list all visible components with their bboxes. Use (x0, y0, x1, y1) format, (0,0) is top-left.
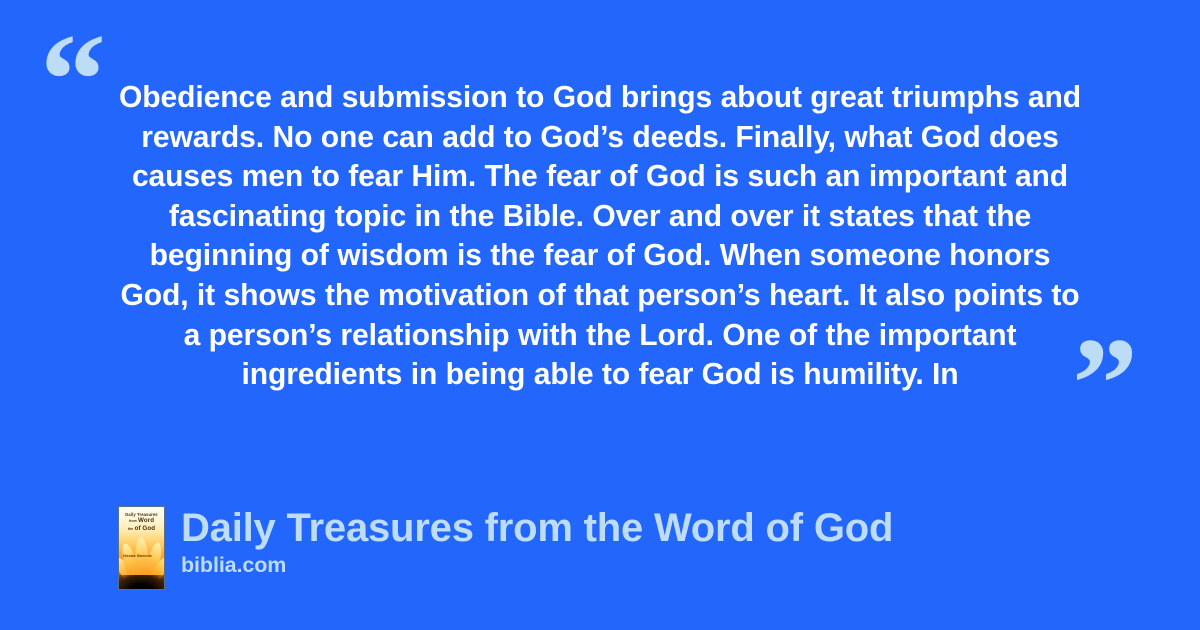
opening-quote-icon: “ (40, 14, 106, 146)
book-cover-author: Nicolae Simionie (123, 554, 152, 559)
book-cover-title: Daily Treasures from Word the of God (122, 512, 161, 532)
quote-text: Obedience and submission to God brings a… (112, 78, 1087, 395)
book-cover-title-the: the (128, 527, 133, 532)
closing-quote-icon: ” (1072, 318, 1138, 450)
quote-card: “ Obedience and submission to God brings… (0, 0, 1200, 630)
book-cover-title-ofgod: of God (135, 525, 156, 532)
sunflower-center (118, 575, 165, 590)
quote-block: Obedience and submission to God brings a… (105, 78, 1095, 395)
brand-url[interactable]: biblia.com (181, 552, 893, 578)
brand-title: Daily Treasures from the Word of God (181, 506, 893, 550)
footer-branding: Daily Treasures from Word the of God Nic… (118, 506, 893, 590)
book-cover-icon: Daily Treasures from Word the of God Nic… (118, 506, 165, 590)
book-cover-title-word: Word (138, 517, 154, 524)
book-cover-title-line1: Daily Treasures (125, 512, 157, 517)
brand-text-group: Daily Treasures from the Word of God bib… (181, 506, 893, 578)
